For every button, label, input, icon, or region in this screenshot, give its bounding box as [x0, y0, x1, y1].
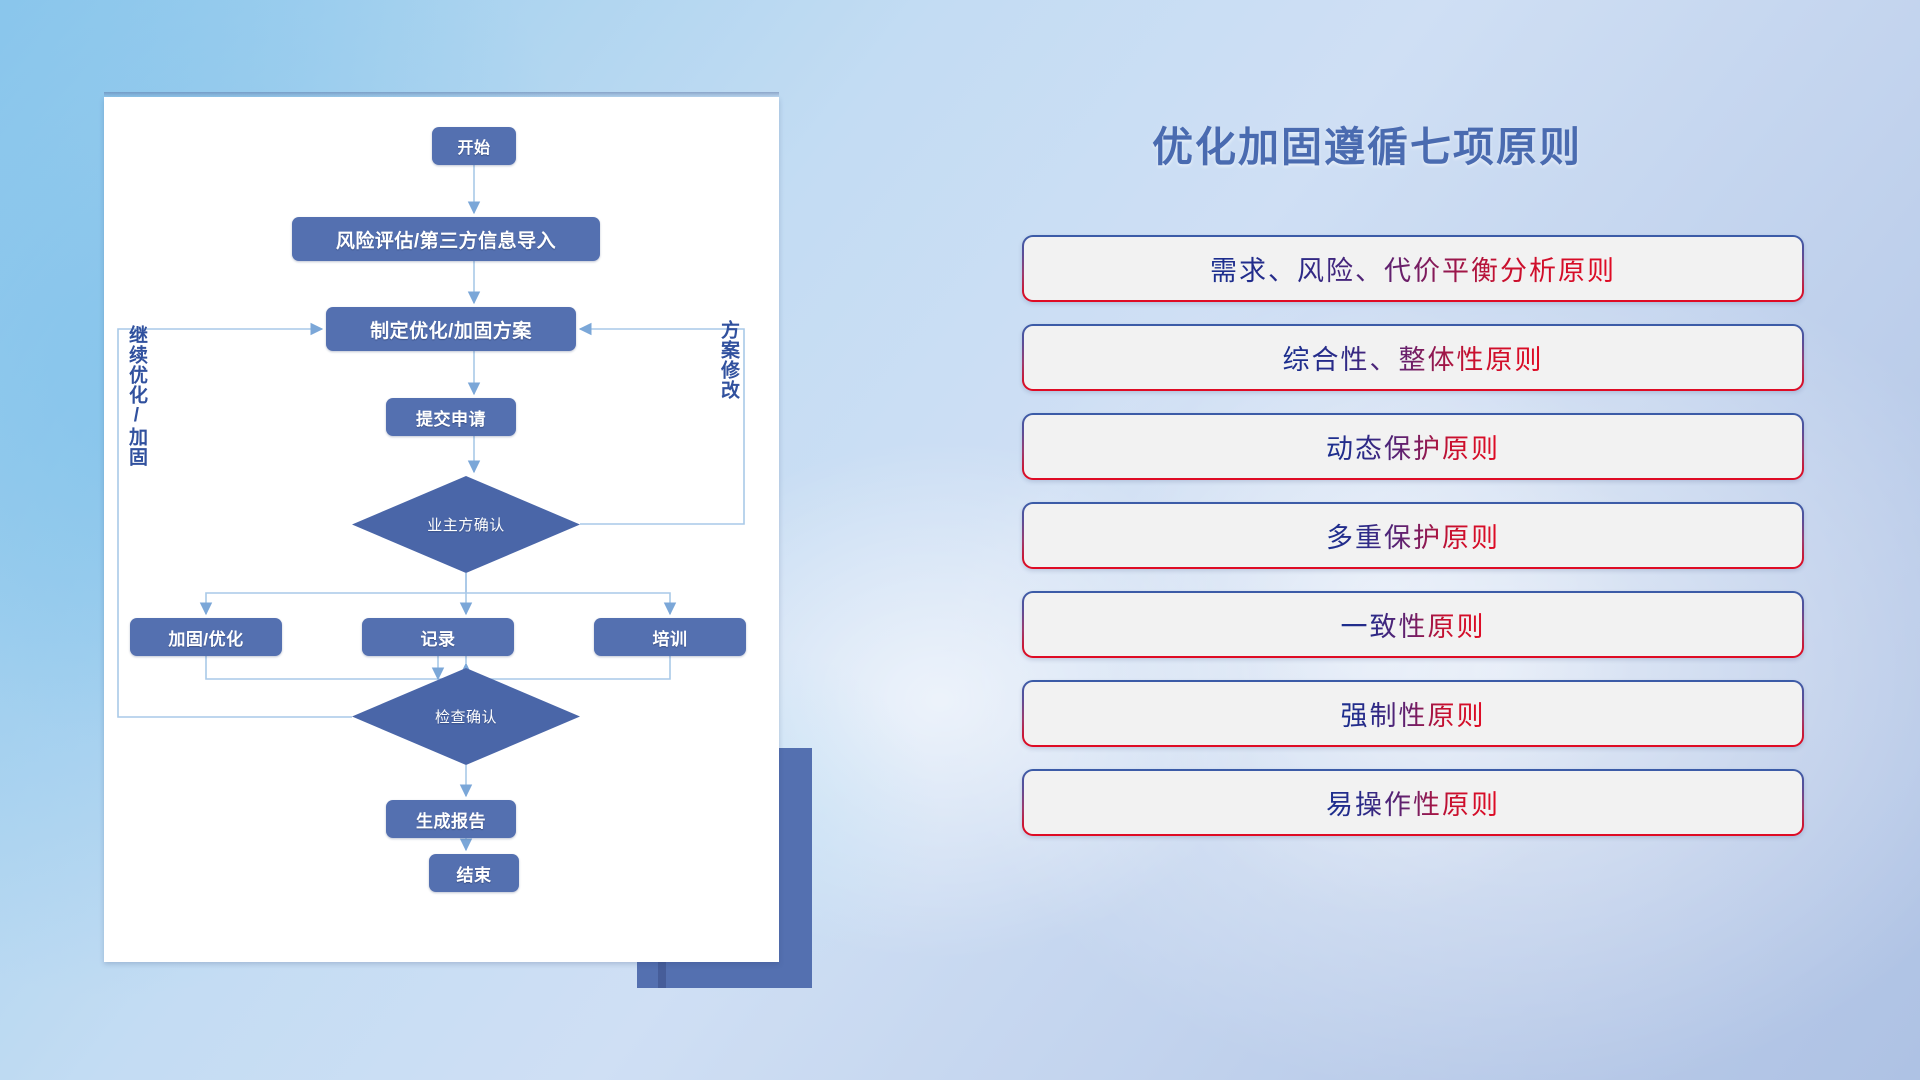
- flow-node-owner-confirm[interactable]: 业主方确认: [352, 476, 580, 573]
- flow-node-risk-assessment[interactable]: 风险评估/第三方信息导入: [292, 217, 600, 261]
- flow-node-generate-report[interactable]: 生成报告: [386, 800, 516, 838]
- principle-card-5[interactable]: 一致性原则: [1022, 591, 1804, 658]
- principle-card-3[interactable]: 动态保护原则: [1022, 413, 1804, 480]
- flow-node-label: 业主方确认: [427, 514, 505, 535]
- flow-node-label: 开始: [457, 134, 490, 158]
- flow-node-label: 制定优化/加固方案: [370, 316, 532, 343]
- principles-list: 需求、风险、代价平衡分析原则 综合性、整体性原则 动态保护原则 多重保护原则 一…: [1022, 235, 1804, 858]
- flow-node-end[interactable]: 结束: [429, 854, 519, 892]
- flow-node-start[interactable]: 开始: [432, 127, 516, 165]
- flow-node-training[interactable]: 培训: [594, 618, 746, 656]
- flow-node-label: 风险评估/第三方信息导入: [336, 226, 556, 253]
- principle-card-7[interactable]: 易操作性原则: [1022, 769, 1804, 836]
- principle-label: 强制性原则: [1341, 694, 1486, 733]
- flow-node-submit-application[interactable]: 提交申请: [386, 398, 516, 436]
- principle-label: 动态保护原则: [1326, 427, 1500, 466]
- principle-card-6[interactable]: 强制性原则: [1022, 680, 1804, 747]
- flow-node-label: 培训: [653, 625, 688, 650]
- principle-card-4[interactable]: 多重保护原则: [1022, 502, 1804, 569]
- principle-card-1[interactable]: 需求、风险、代价平衡分析原则: [1022, 235, 1804, 302]
- principle-label: 多重保护原则: [1326, 516, 1500, 555]
- principle-label: 易操作性原则: [1326, 783, 1500, 822]
- flow-node-make-plan[interactable]: 制定优化/加固方案: [326, 307, 576, 351]
- flow-edge-label-plan-revision: 方案修改: [718, 320, 738, 400]
- flow-node-label: 生成报告: [416, 807, 486, 832]
- slide-canvas: 开始 风险评估/第三方信息导入 制定优化/加固方案 提交申请 业主方确认 加固/…: [0, 0, 1920, 1080]
- flowchart-panel: 开始 风险评估/第三方信息导入 制定优化/加固方案 提交申请 业主方确认 加固/…: [104, 97, 779, 962]
- flow-node-record[interactable]: 记录: [362, 618, 514, 656]
- principle-label: 综合性、整体性原则: [1283, 338, 1544, 377]
- flow-node-label: 记录: [421, 625, 456, 650]
- principle-label: 一致性原则: [1341, 605, 1486, 644]
- flow-node-label: 加固/优化: [168, 625, 243, 650]
- flow-node-inspect-confirm[interactable]: 检查确认: [352, 668, 580, 765]
- principle-label: 需求、风险、代价平衡分析原则: [1210, 249, 1616, 288]
- flow-node-label: 提交申请: [416, 405, 486, 430]
- flow-node-label: 检查确认: [435, 706, 497, 727]
- flow-edge-label-continue-optimize: 继续优化/加固: [126, 325, 146, 467]
- flowchart: 开始 风险评估/第三方信息导入 制定优化/加固方案 提交申请 业主方确认 加固/…: [104, 97, 779, 962]
- flow-node-label: 结束: [457, 861, 492, 886]
- page-title: 优化加固遵循七项原则: [1152, 113, 1582, 173]
- flow-node-reinforce-optimize[interactable]: 加固/优化: [130, 618, 282, 656]
- principle-card-2[interactable]: 综合性、整体性原则: [1022, 324, 1804, 391]
